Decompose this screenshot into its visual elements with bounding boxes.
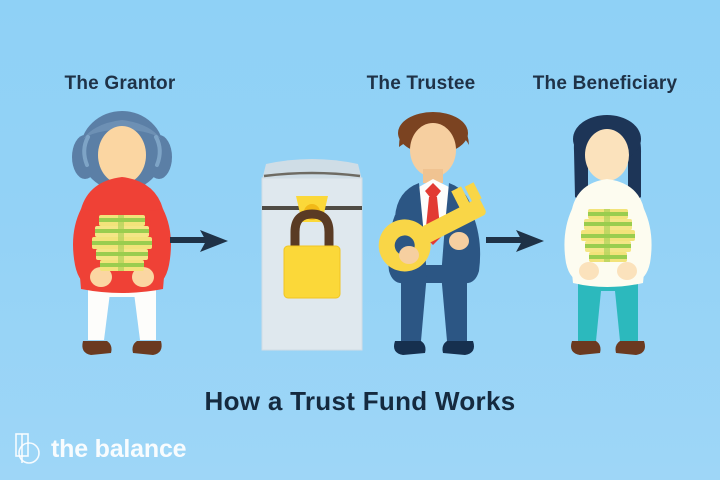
padlock-body	[284, 246, 340, 298]
money-stack-beneficiary	[581, 209, 635, 262]
the-balance-logo: the balance	[14, 432, 186, 466]
logo-text: the balance	[51, 435, 186, 464]
beneficiary-figure	[548, 105, 668, 365]
grantor-shoes	[82, 341, 161, 355]
safe-lid	[262, 159, 362, 180]
b-monogram-icon	[14, 432, 44, 466]
grantor-face	[98, 126, 146, 184]
label-the-beneficiary: The Beneficiary	[533, 73, 678, 95]
beneficiary-hand-right	[617, 262, 637, 280]
label-the-grantor: The Grantor	[65, 73, 176, 95]
arrow-grantor-to-safe	[170, 228, 232, 254]
page-title: How a Trust Fund Works	[205, 386, 516, 417]
trustee-hand-left	[399, 246, 419, 264]
arrow-trustee-to-beneficiary	[486, 228, 548, 254]
beneficiary-face	[585, 129, 629, 181]
trustee-shoes	[394, 341, 474, 355]
beneficiary-shoes	[571, 341, 645, 355]
trustee-legs	[401, 265, 467, 341]
money-stack-grantor	[92, 215, 152, 271]
trustee-hand-right	[449, 232, 469, 250]
trustee-face	[410, 123, 456, 177]
label-the-trustee: The Trustee	[367, 73, 476, 95]
trustee-figure	[375, 105, 495, 365]
infographic-canvas: The Grantor The Trustee The Beneficiary	[0, 0, 720, 480]
beneficiary-hand-left	[579, 262, 599, 280]
safe-vault	[248, 148, 376, 358]
